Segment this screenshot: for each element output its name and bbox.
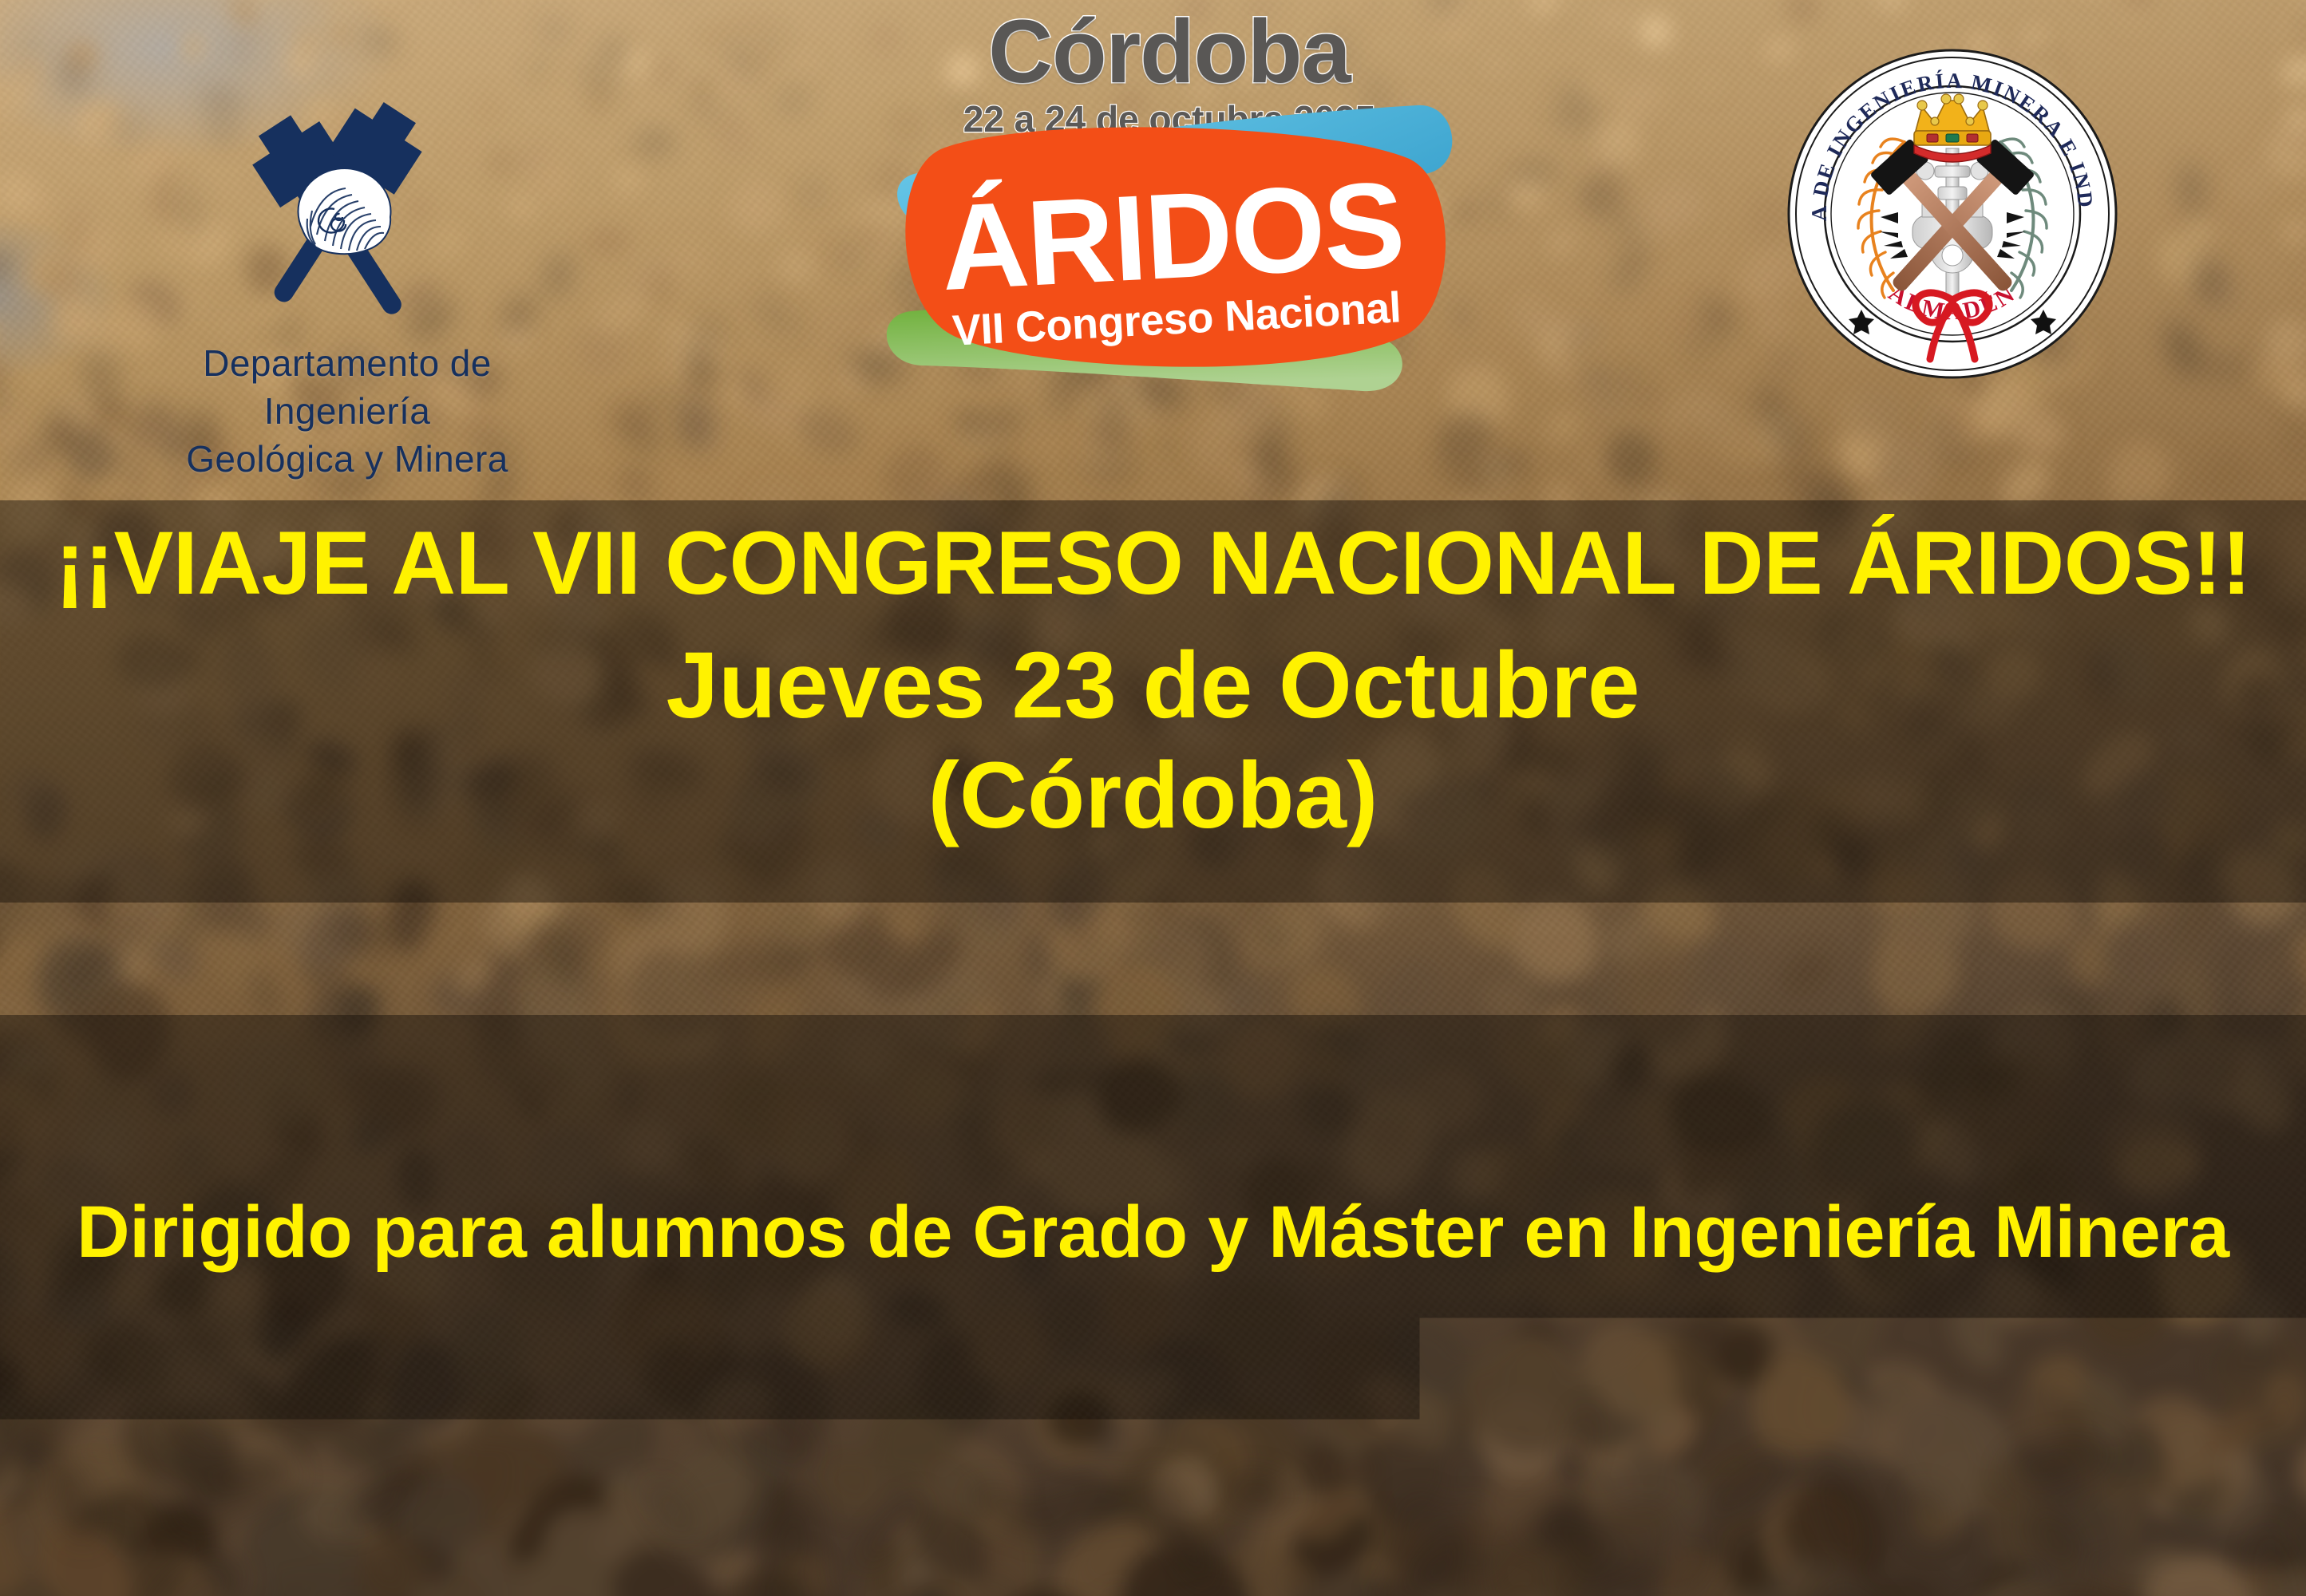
aridos-congress-logo: Córdoba 22 a 24 de octubre 2025 — [866, 8, 1473, 407]
ammonite-icon — [298, 168, 390, 254]
school-seal-icon: ESCUELA DE INGENIERÍA MINERA E INDUSTRIA… — [1785, 46, 2120, 381]
logo-row: Departamento de Ingeniería Geológica y M… — [0, 0, 2306, 495]
aridos-brand-shapes: ÁRIDOS VII Congreso Nacional — [866, 72, 1473, 407]
department-logo: Departamento de Ingeniería Geológica y M… — [124, 96, 571, 431]
school-seal-logo: ESCUELA DE INGENIERÍA MINERA E INDUSTRIA… — [1785, 46, 2120, 381]
department-logo-line1: Departamento de Ingeniería — [124, 340, 571, 436]
crossed-hammers-ammonite-icon — [216, 96, 479, 335]
poster: Departamento de Ingeniería Geológica y M… — [0, 0, 2306, 1596]
event-place-line: (Córdoba) — [0, 749, 2306, 843]
department-logo-line2: Geológica y Minera — [124, 436, 571, 484]
event-date-line: Jueves 23 de Octubre — [0, 638, 2306, 733]
page-title: ¡¡VIAJE AL VII CONGRESO NACIONAL DE ÁRID… — [0, 519, 2306, 608]
audience-note: Dirigido para alumnos de Grado y Máster … — [0, 1195, 2306, 1269]
